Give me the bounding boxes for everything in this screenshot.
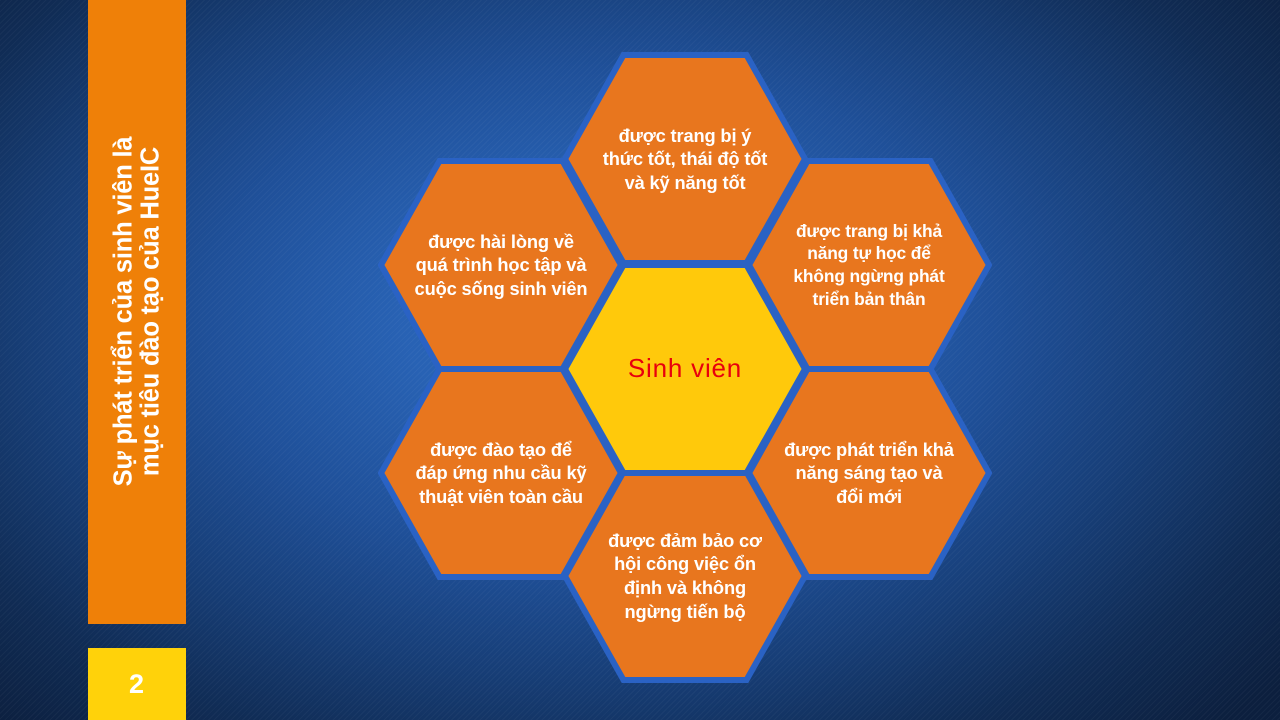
hex-label-center: Sinh viên	[597, 352, 773, 386]
honeycomb-diagram: được trang bị ý thức tốt, thái độ tốt và…	[0, 0, 1280, 720]
hex-label-top-right: được trang bị khả năng tự học để không n…	[781, 220, 957, 311]
hex-label-bottom: được đảm bảo cơ hội công việc ổn định và…	[597, 529, 773, 623]
hex-label-bottom-left: được đào tạo để đáp ứng nhu cầu kỹ thuật…	[413, 438, 589, 509]
hex-label-top-left: được hài lòng về quá trình học tập và cu…	[413, 230, 589, 301]
hex-label-top: được trang bị ý thức tốt, thái độ tốt và…	[597, 124, 773, 195]
hex-cell-center[interactable]: Sinh viên	[562, 262, 808, 476]
slide-canvas: Sự phát triển của sinh viên là mục tiêu …	[0, 0, 1280, 720]
hex-label-bottom-right: được phát triển khả năng sáng tạo và đổi…	[781, 438, 957, 509]
